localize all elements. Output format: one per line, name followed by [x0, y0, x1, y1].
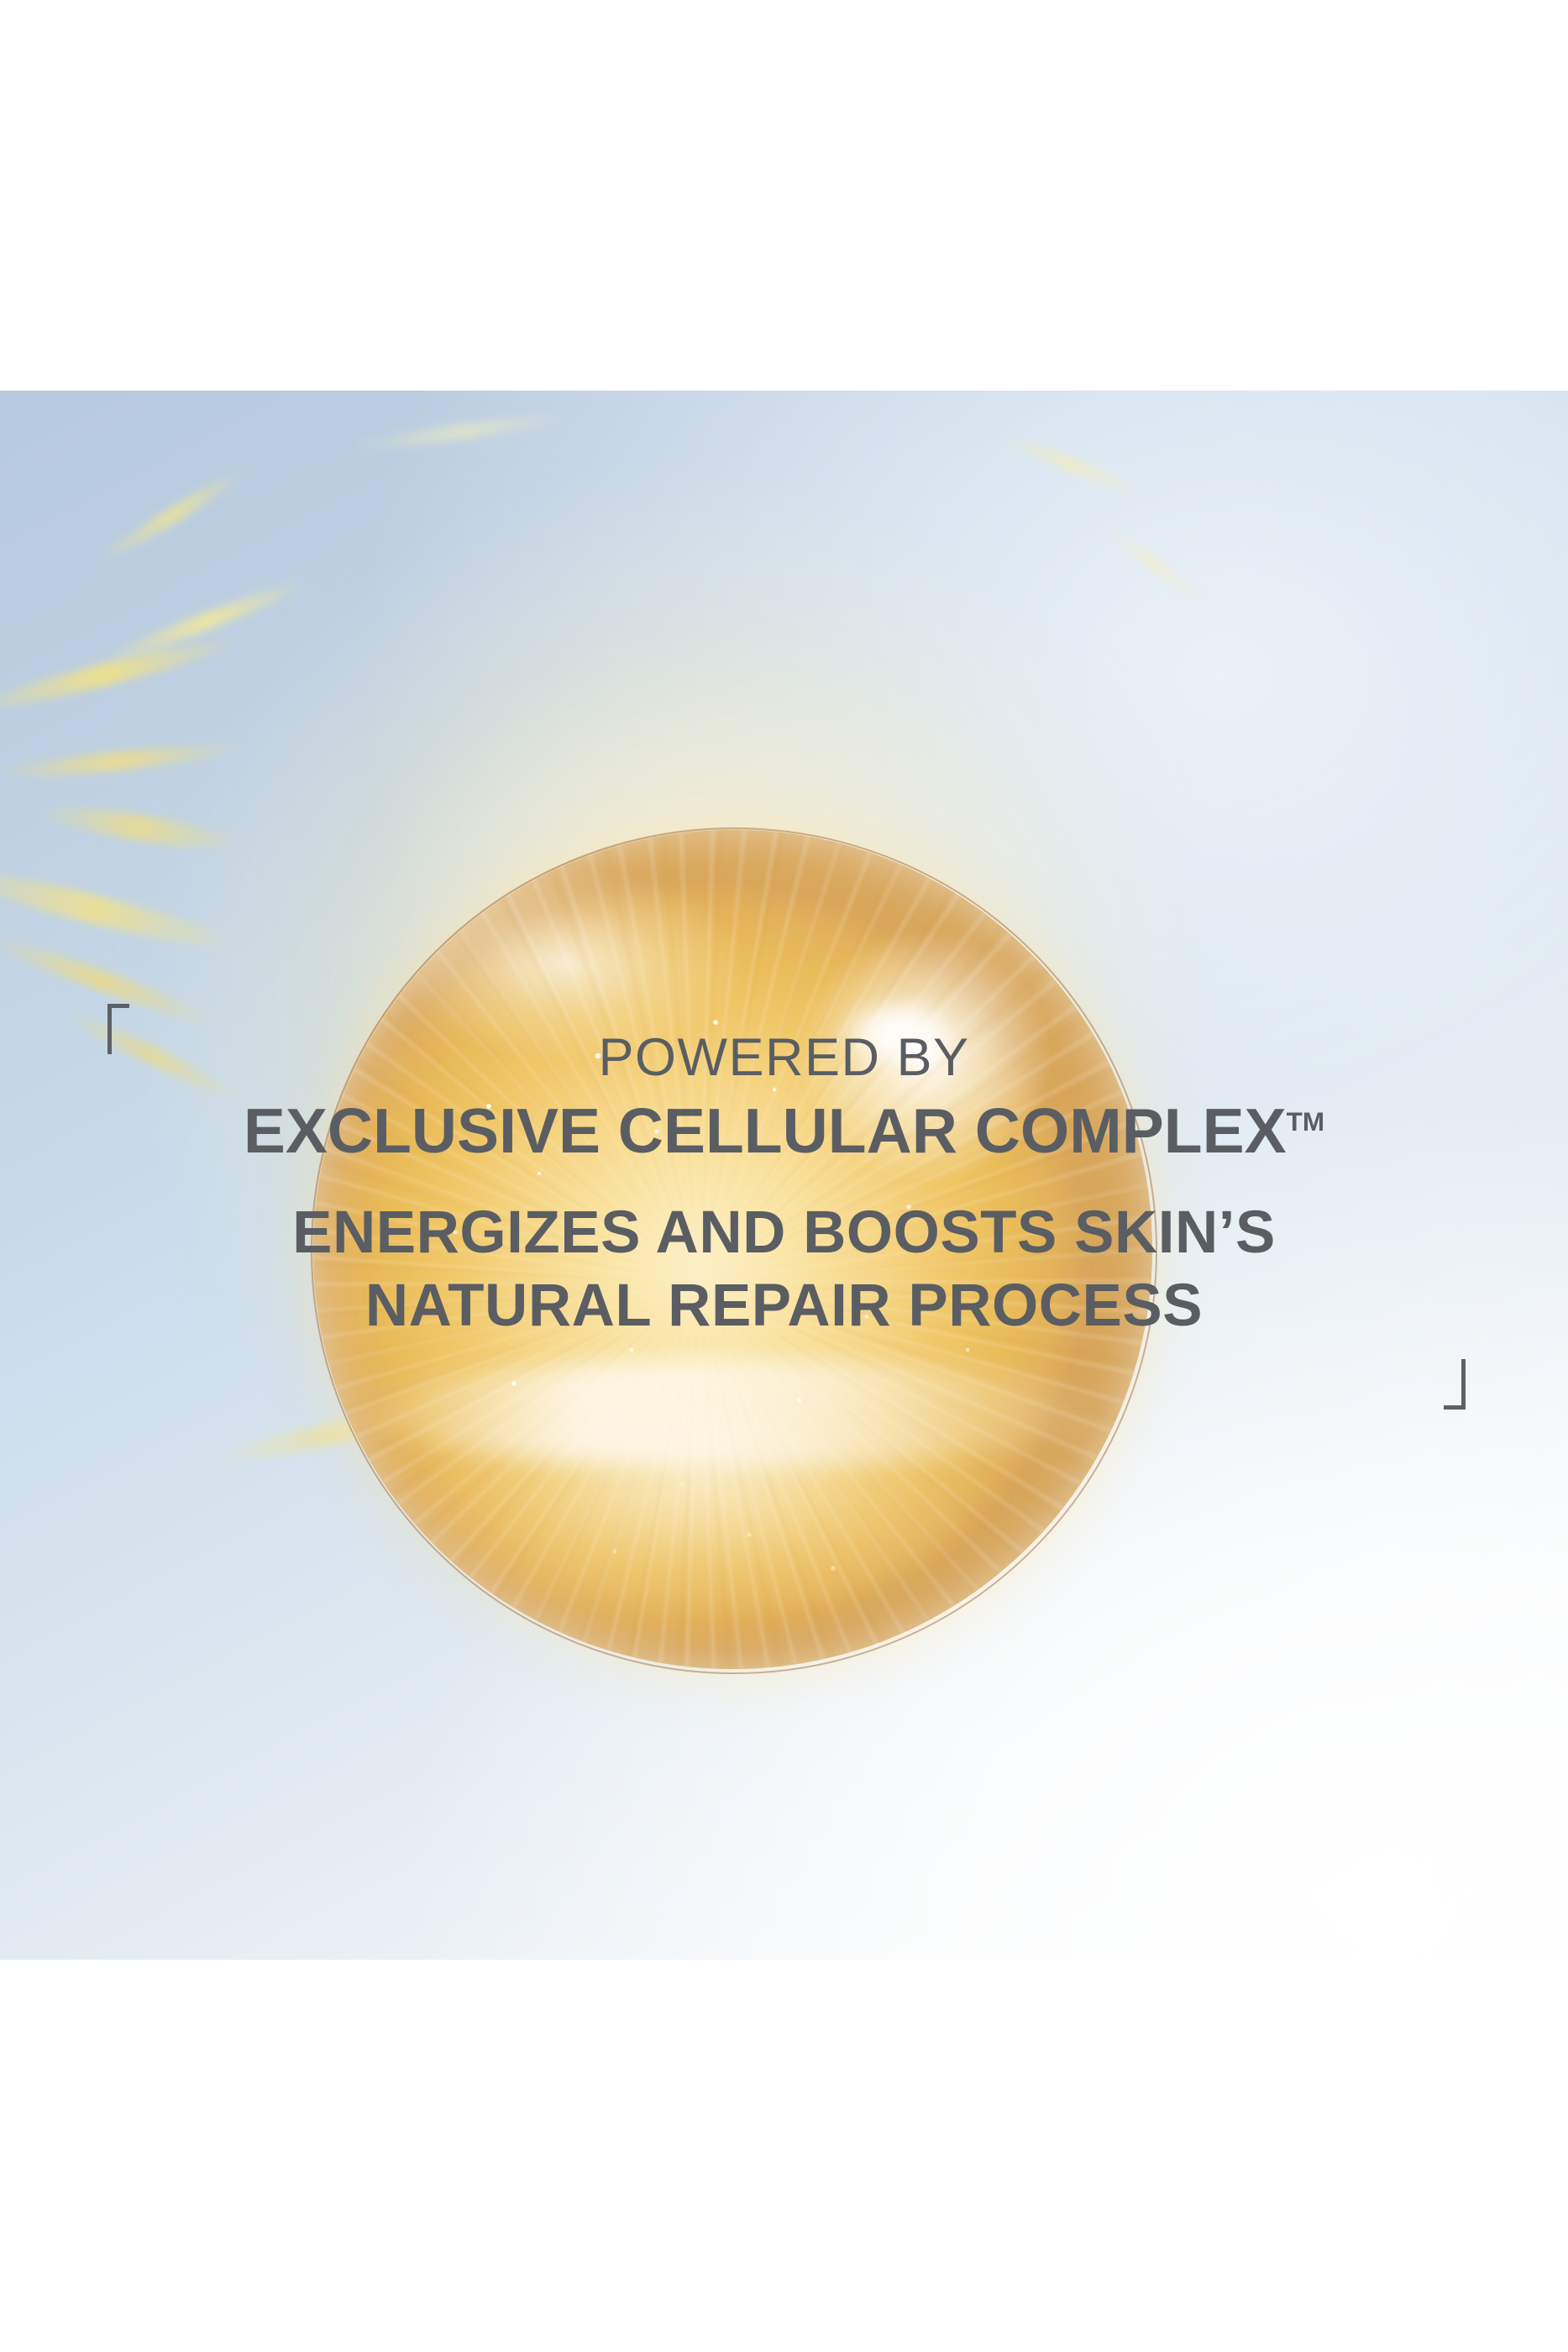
splash-streak	[33, 799, 244, 857]
headline-benefit-line-2: NATURAL REPAIR PROCESS	[0, 1276, 1568, 1336]
headline-kicker: POWERED BY	[0, 1032, 1568, 1084]
splash-streak	[0, 927, 223, 1032]
hero-text-block: POWERED BY EXCLUSIVE CELLULAR COMPLEXTM …	[0, 1032, 1568, 1336]
splash-streak	[353, 409, 571, 454]
splash-streak	[93, 463, 251, 570]
trademark-symbol: TM	[1287, 1106, 1324, 1137]
headline-primary-text: EXCLUSIVE CELLULAR COMPLEX	[244, 1095, 1287, 1166]
splash-streak	[0, 858, 243, 959]
headline-benefit-line-1: ENERGIZES AND BOOSTS SKIN’S	[0, 1203, 1568, 1263]
splash-streak	[1102, 521, 1209, 607]
splash-streak	[994, 428, 1147, 501]
splash-streak	[0, 738, 244, 783]
bracket-bottom-right	[1444, 1359, 1466, 1410]
splash-streak	[0, 630, 242, 718]
headline-primary: EXCLUSIVE CELLULAR COMPLEXTM	[0, 1100, 1568, 1163]
splash-streak	[97, 573, 314, 669]
screenshot-canvas: POWERED BY EXCLUSIVE CELLULAR COMPLEXTM …	[0, 0, 1568, 2352]
